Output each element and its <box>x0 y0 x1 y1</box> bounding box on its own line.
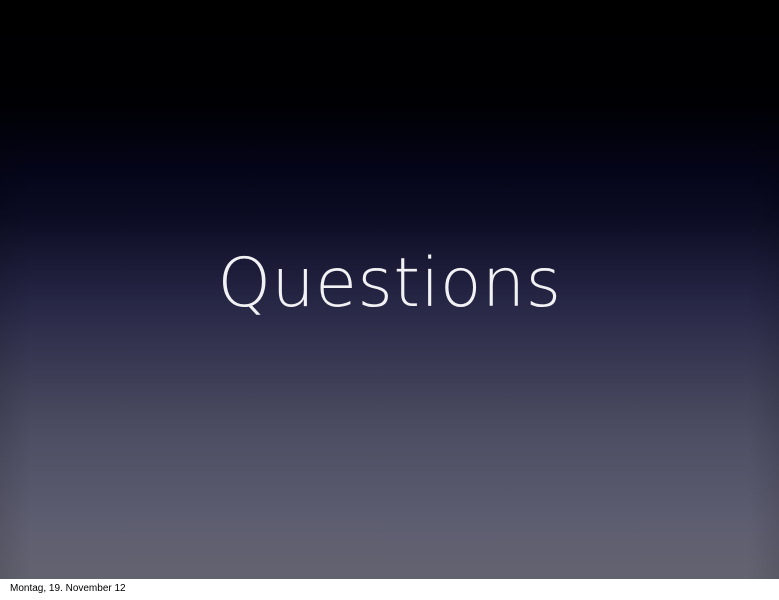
footer-bar: Montag, 19. November 12 <box>0 579 779 600</box>
presentation-viewer: Questions Montag, 19. November 12 <box>0 0 779 600</box>
footer-date-label: Montag, 19. November 12 <box>10 582 126 595</box>
slide-title: Questions <box>217 250 561 318</box>
slide-canvas: Questions <box>0 0 779 579</box>
slide-content-area: Questions <box>0 0 779 579</box>
